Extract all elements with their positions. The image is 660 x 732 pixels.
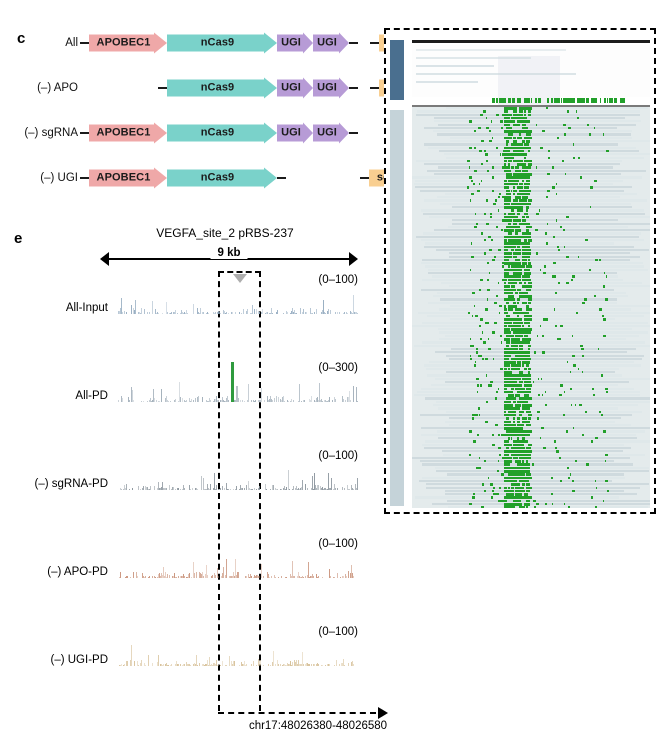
read-bar bbox=[440, 203, 631, 205]
signal-bar bbox=[293, 486, 294, 490]
variant-mark bbox=[543, 318, 546, 320]
signal-bar bbox=[145, 576, 146, 578]
arrow-label: UGI bbox=[313, 78, 349, 99]
variant-mark bbox=[484, 150, 486, 152]
connector-dash bbox=[349, 132, 358, 134]
variant-mark bbox=[543, 272, 546, 274]
construct-arrow-apobec1: APOBEC1 bbox=[89, 168, 167, 189]
variant-mark bbox=[476, 467, 478, 469]
variant-mark bbox=[556, 219, 557, 221]
variant-mark bbox=[481, 140, 484, 142]
variant-mark bbox=[528, 503, 530, 506]
variant-mark bbox=[513, 246, 516, 249]
signal-bar bbox=[223, 567, 224, 578]
variant-mark bbox=[517, 407, 520, 410]
signal-bar bbox=[171, 312, 172, 315]
variant-mark bbox=[519, 183, 522, 186]
variant-mark bbox=[471, 180, 474, 182]
signal-bar bbox=[216, 485, 217, 490]
variant-mark bbox=[522, 216, 525, 219]
variant-mark bbox=[471, 242, 473, 244]
variant-mark bbox=[515, 256, 517, 259]
read-bar bbox=[426, 487, 640, 489]
variant-mark bbox=[504, 325, 507, 328]
variant-mark bbox=[579, 404, 582, 406]
variant-mark bbox=[502, 219, 505, 221]
variant-mark bbox=[528, 368, 531, 371]
variant-mark bbox=[564, 503, 566, 505]
variant-mark bbox=[581, 348, 584, 350]
signal-bar bbox=[286, 577, 287, 578]
signal-bar bbox=[273, 485, 274, 490]
construct-row-label-text: (–) APO bbox=[0, 73, 78, 103]
variant-mark bbox=[522, 444, 525, 447]
variant-mark bbox=[572, 275, 574, 277]
read-bar bbox=[439, 338, 626, 340]
read-bar bbox=[438, 437, 637, 439]
variant-mark bbox=[486, 117, 488, 119]
variant-mark bbox=[526, 143, 529, 146]
variant-mark bbox=[526, 480, 529, 483]
variant-mark bbox=[551, 477, 554, 479]
signal-bar bbox=[235, 312, 236, 314]
variant-mark bbox=[508, 457, 512, 460]
variant-mark bbox=[526, 206, 529, 209]
read-bar bbox=[428, 147, 637, 149]
variant-mark bbox=[511, 133, 514, 136]
signal-bar bbox=[152, 663, 153, 666]
variant-mark bbox=[572, 355, 575, 357]
variant-mark bbox=[479, 414, 481, 416]
variant-mark bbox=[502, 500, 504, 502]
variant-mark bbox=[515, 457, 518, 460]
signal-bar bbox=[120, 572, 121, 578]
variant-mark bbox=[469, 166, 471, 168]
variant-mark bbox=[538, 378, 540, 380]
variant-mark bbox=[528, 252, 531, 255]
signal-bar bbox=[308, 562, 309, 578]
variant-mark bbox=[474, 364, 475, 366]
variant-mark bbox=[566, 282, 569, 284]
signal-bar bbox=[353, 576, 354, 578]
signal-bar bbox=[251, 664, 252, 666]
signal-bar bbox=[289, 489, 290, 490]
signal-bar bbox=[184, 488, 185, 490]
signal-bar bbox=[293, 400, 294, 402]
read-bar bbox=[436, 470, 648, 472]
variant-mark bbox=[506, 302, 509, 305]
variant-mark bbox=[517, 368, 520, 371]
variant-mark bbox=[519, 160, 523, 163]
variant-mark bbox=[513, 401, 516, 404]
variant-mark bbox=[522, 424, 524, 427]
variant-mark bbox=[469, 147, 472, 149]
construct-arrow-ncas9: nCas9 bbox=[167, 168, 277, 189]
signal-bar bbox=[312, 313, 313, 314]
variant-mark bbox=[478, 467, 481, 469]
construct-row-label: (–) UGI bbox=[0, 163, 78, 193]
variant-mark bbox=[498, 388, 499, 390]
read-bar bbox=[446, 157, 644, 159]
signal-bar bbox=[345, 400, 346, 402]
variant-mark bbox=[558, 249, 561, 251]
read-bar bbox=[421, 239, 644, 241]
signal-bar bbox=[325, 665, 326, 666]
variant-mark bbox=[474, 147, 476, 149]
signal-bar bbox=[264, 400, 265, 402]
connector-dash bbox=[80, 132, 89, 134]
variant-mark bbox=[528, 384, 532, 387]
signal-bar bbox=[147, 312, 148, 314]
variant-mark bbox=[522, 437, 525, 440]
track-label: (–) UGI-PD bbox=[0, 654, 108, 666]
signal-bar bbox=[346, 576, 347, 578]
variant-mark bbox=[598, 348, 599, 350]
variant-mark bbox=[528, 180, 530, 183]
variant-mark bbox=[511, 249, 514, 252]
variant-mark bbox=[470, 345, 473, 347]
variant-mark bbox=[536, 503, 539, 505]
construct-row-label-text: (–) UGI bbox=[0, 163, 78, 193]
variant-mark bbox=[511, 335, 515, 338]
variant-mark bbox=[522, 487, 525, 490]
signal-bar bbox=[277, 310, 278, 314]
variant-mark bbox=[508, 460, 512, 463]
read-bar bbox=[434, 117, 625, 119]
signal-bar bbox=[194, 573, 195, 578]
consensus-variant-mark bbox=[519, 98, 520, 103]
signal-bar bbox=[305, 576, 306, 578]
variant-mark bbox=[528, 176, 530, 179]
signal-bar bbox=[255, 400, 256, 402]
variant-mark bbox=[522, 447, 525, 450]
variant-mark bbox=[594, 127, 595, 129]
signal-bar bbox=[244, 488, 245, 491]
variant-mark bbox=[490, 381, 493, 383]
variant-mark bbox=[552, 275, 555, 277]
signal-bar bbox=[337, 488, 338, 490]
variant-mark bbox=[524, 219, 526, 222]
figure-canvas: c e AllAPOBEC1nCas9UGIUGIsgRNA(–) APOnCa… bbox=[0, 0, 660, 522]
signal-bar bbox=[234, 661, 235, 666]
arrow-label: APOBEC1 bbox=[89, 123, 167, 144]
variant-mark bbox=[498, 196, 500, 198]
signal-bar bbox=[291, 399, 292, 402]
consensus-variant-mark bbox=[535, 98, 536, 103]
variant-mark bbox=[503, 150, 504, 152]
read-row[interactable] bbox=[412, 506, 650, 508]
variant-mark bbox=[528, 338, 530, 341]
signal-bar bbox=[149, 312, 150, 314]
variant-mark bbox=[573, 143, 574, 145]
read-bar bbox=[432, 503, 650, 505]
variant-mark bbox=[570, 388, 572, 390]
variant-mark bbox=[498, 460, 500, 462]
signal-bar bbox=[175, 399, 176, 402]
variant-mark bbox=[605, 480, 608, 482]
construct-arrow-ncas9: nCas9 bbox=[167, 78, 277, 99]
variant-mark bbox=[485, 153, 488, 155]
variant-mark bbox=[498, 209, 500, 211]
signal-bar bbox=[207, 575, 208, 578]
variant-mark bbox=[470, 358, 471, 360]
variant-mark bbox=[545, 503, 547, 505]
variant-mark bbox=[528, 137, 532, 140]
variant-mark bbox=[515, 223, 517, 226]
signal-bar bbox=[208, 313, 209, 314]
signal-bar bbox=[322, 401, 323, 402]
variant-mark bbox=[469, 120, 472, 122]
variant-mark bbox=[506, 110, 508, 113]
variant-mark bbox=[524, 157, 527, 160]
signal-bar bbox=[202, 397, 203, 402]
signal-bar bbox=[229, 656, 230, 666]
signal-bar bbox=[149, 576, 150, 578]
variant-mark bbox=[517, 421, 520, 424]
variant-mark bbox=[528, 397, 532, 400]
variant-mark bbox=[498, 249, 501, 251]
variant-mark bbox=[477, 434, 480, 436]
variant-mark bbox=[504, 213, 506, 216]
variant-mark bbox=[511, 487, 515, 490]
connector-dash bbox=[349, 87, 358, 89]
variant-mark bbox=[528, 348, 530, 351]
variant-mark bbox=[511, 437, 513, 440]
variant-mark bbox=[526, 394, 529, 397]
variant-mark bbox=[515, 190, 517, 193]
variant-mark bbox=[486, 160, 488, 162]
variant-mark bbox=[489, 236, 492, 238]
arrow-label: APOBEC1 bbox=[89, 168, 167, 189]
signal-bar bbox=[195, 398, 196, 402]
variant-mark bbox=[485, 322, 488, 324]
variant-mark bbox=[582, 355, 585, 357]
variant-mark bbox=[604, 272, 606, 274]
variant-mark bbox=[486, 401, 488, 403]
read-bar bbox=[450, 318, 615, 320]
signal-bar bbox=[228, 489, 229, 490]
read-bar bbox=[445, 490, 624, 492]
variant-mark bbox=[493, 487, 496, 489]
signal-bar bbox=[270, 489, 271, 490]
read-bar bbox=[449, 252, 630, 254]
signal-bar bbox=[251, 576, 252, 579]
variant-mark bbox=[508, 401, 511, 404]
variant-mark bbox=[501, 341, 503, 343]
variant-mark bbox=[557, 246, 559, 248]
variant-mark bbox=[500, 335, 502, 337]
arrow-label: UGI bbox=[313, 123, 349, 144]
read-bar bbox=[443, 454, 645, 456]
variant-mark bbox=[524, 262, 527, 265]
variant-mark bbox=[517, 219, 521, 222]
variant-mark bbox=[572, 335, 574, 337]
variant-mark bbox=[590, 206, 592, 208]
variant-mark bbox=[528, 417, 531, 420]
consensus-variant-mark bbox=[584, 98, 585, 103]
variant-mark bbox=[511, 394, 515, 397]
variant-mark bbox=[492, 259, 495, 261]
read-bar bbox=[452, 219, 618, 221]
variant-mark bbox=[538, 394, 540, 396]
variant-mark bbox=[528, 265, 532, 268]
variant-mark bbox=[513, 289, 516, 292]
signal-bar bbox=[155, 577, 156, 578]
construct-row: (–) sgRNAAPOBEC1nCas9UGIUGI bbox=[0, 118, 380, 148]
signal-bar bbox=[263, 576, 264, 578]
variant-mark bbox=[572, 490, 575, 492]
variant-mark bbox=[502, 265, 504, 267]
genome-track: (0–100)(–) APO-PD bbox=[0, 538, 380, 582]
variant-mark bbox=[473, 493, 475, 495]
read-bar bbox=[441, 282, 642, 284]
signal-bar bbox=[159, 401, 160, 402]
signal-bar bbox=[126, 312, 127, 314]
variant-mark bbox=[528, 374, 531, 377]
variant-mark bbox=[506, 341, 510, 344]
variant-mark bbox=[548, 157, 550, 159]
variant-mark bbox=[528, 473, 531, 476]
variant-mark bbox=[532, 463, 534, 465]
variant-mark bbox=[517, 394, 520, 397]
variant-mark bbox=[547, 173, 550, 175]
signal-bar bbox=[184, 576, 185, 578]
consensus-variant-mark bbox=[526, 98, 530, 103]
variant-mark bbox=[499, 487, 502, 489]
variant-mark bbox=[528, 358, 530, 361]
variant-mark bbox=[528, 351, 530, 354]
connector-dash bbox=[370, 87, 379, 89]
variant-mark bbox=[535, 229, 538, 231]
signal-bar bbox=[144, 309, 145, 314]
variant-mark bbox=[528, 325, 530, 328]
variant-mark bbox=[602, 315, 604, 317]
variant-mark bbox=[533, 381, 534, 383]
signal-bar bbox=[156, 400, 157, 402]
variant-mark bbox=[554, 308, 556, 310]
variant-mark bbox=[528, 318, 532, 321]
signal-bar bbox=[140, 489, 141, 490]
variant-mark bbox=[515, 107, 517, 110]
read-bar bbox=[433, 404, 638, 406]
signal-bar bbox=[342, 487, 343, 490]
variant-mark bbox=[528, 289, 531, 292]
variant-mark bbox=[575, 404, 576, 406]
signal-bar bbox=[200, 308, 201, 315]
variant-mark bbox=[481, 163, 484, 165]
read-alignment-rows[interactable] bbox=[412, 107, 650, 508]
variant-mark bbox=[480, 279, 483, 281]
signal-bar bbox=[242, 400, 243, 402]
variant-mark bbox=[576, 312, 578, 314]
variant-mark bbox=[484, 460, 487, 462]
signal-bar bbox=[176, 577, 177, 578]
variant-mark bbox=[524, 114, 526, 117]
consensus-variant-mark bbox=[572, 98, 575, 103]
signal-bar bbox=[203, 576, 204, 578]
variant-mark bbox=[524, 282, 526, 285]
variant-mark bbox=[519, 289, 521, 292]
variant-mark bbox=[474, 130, 477, 132]
variant-mark bbox=[506, 345, 508, 348]
variant-mark bbox=[499, 193, 501, 195]
signal-bar bbox=[226, 665, 227, 667]
signal-bar bbox=[304, 400, 305, 402]
variant-mark bbox=[563, 414, 566, 416]
variant-mark bbox=[524, 110, 526, 113]
variant-mark bbox=[511, 391, 513, 394]
variant-mark bbox=[528, 183, 530, 186]
variant-mark bbox=[601, 414, 604, 416]
variant-mark bbox=[584, 298, 586, 300]
signal-bar bbox=[328, 309, 329, 314]
signal-bar bbox=[357, 313, 358, 314]
variant-mark bbox=[508, 124, 510, 127]
variant-mark bbox=[474, 226, 477, 228]
variant-mark bbox=[490, 213, 492, 215]
read-bar bbox=[412, 325, 650, 327]
connector-dash bbox=[80, 42, 89, 44]
variant-mark bbox=[528, 457, 531, 460]
read-bar bbox=[437, 292, 626, 294]
signal-bar bbox=[241, 313, 242, 314]
signal-bar bbox=[180, 489, 181, 490]
zoom-connector-tip-icon bbox=[378, 707, 388, 719]
read-bar bbox=[425, 265, 644, 267]
read-bar bbox=[448, 506, 648, 508]
reference-feature-line bbox=[416, 57, 531, 59]
variant-mark bbox=[526, 269, 530, 272]
variant-mark bbox=[515, 308, 519, 311]
variant-mark bbox=[487, 279, 489, 281]
variant-mark bbox=[566, 216, 569, 218]
signal-bar bbox=[242, 488, 243, 490]
variant-mark bbox=[528, 378, 531, 381]
signal-bar bbox=[196, 572, 197, 578]
panel-c-constructs: AllAPOBEC1nCas9UGIUGIsgRNA(–) APOnCas9UG… bbox=[0, 28, 380, 208]
signal-bar bbox=[190, 665, 191, 666]
track-range-label: (0–100) bbox=[318, 538, 358, 550]
enrichment-peak-shoulder bbox=[236, 386, 238, 402]
variant-mark bbox=[539, 209, 541, 211]
signal-bar bbox=[192, 488, 193, 490]
variant-mark bbox=[528, 490, 530, 493]
variant-mark bbox=[528, 236, 531, 239]
panel-e-title: VEGFA_site_2 pRBS-237 bbox=[110, 226, 340, 240]
variant-mark bbox=[526, 216, 529, 219]
variant-mark bbox=[566, 256, 569, 258]
signal-bar bbox=[167, 574, 168, 578]
variant-mark bbox=[517, 213, 520, 216]
signal-bar bbox=[222, 661, 223, 667]
signal-bar bbox=[301, 401, 302, 402]
variant-mark bbox=[528, 467, 530, 470]
signal-bar bbox=[259, 486, 260, 490]
variant-mark bbox=[480, 318, 482, 320]
signal-bar bbox=[251, 400, 252, 403]
variant-mark bbox=[528, 199, 532, 202]
variant-mark bbox=[484, 252, 487, 254]
variant-mark bbox=[528, 279, 531, 282]
variant-mark bbox=[541, 378, 543, 380]
variant-mark bbox=[575, 460, 577, 462]
variant-mark bbox=[589, 133, 591, 135]
variant-mark bbox=[585, 239, 588, 241]
variant-mark bbox=[526, 506, 528, 508]
variant-mark bbox=[528, 173, 532, 176]
variant-mark bbox=[592, 388, 594, 390]
variant-mark bbox=[599, 259, 602, 261]
